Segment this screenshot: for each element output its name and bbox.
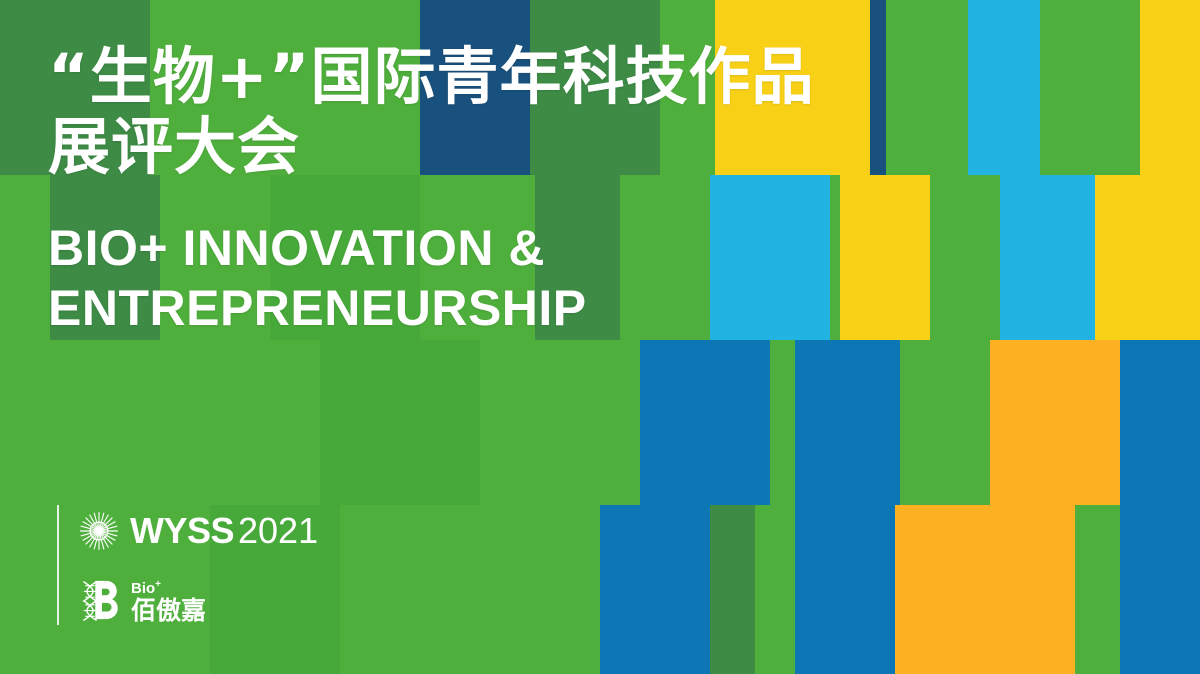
wyss-wordmark: WYSS (130, 513, 234, 549)
wyss-sunburst-icon (77, 509, 121, 553)
baiaojia-chinese-name: 佰傲嘉 (131, 598, 206, 623)
baiaojia-latin-label: Bio+ (131, 580, 206, 596)
wyss-logo: WYSS 2021 (77, 509, 318, 553)
page-title-chinese: “生物+”国际青年科技作品 展评大会 (48, 42, 968, 182)
wyss-year: 2021 (238, 513, 318, 549)
baiaojia-latin: Bio (131, 580, 155, 597)
page-title-english: BIO+ INNOVATION & ENTREPRENEURSHIP (48, 218, 808, 338)
logo-lockup: WYSS 2021 (57, 505, 357, 625)
poster-canvas: “生物+”国际青年科技作品 展评大会 BIO+ INNOVATION & ENT… (0, 0, 1200, 674)
poster-content: “生物+”国际青年科技作品 展评大会 BIO+ INNOVATION & ENT… (0, 0, 1200, 674)
logo-stack: WYSS 2021 (77, 505, 318, 625)
baiaojia-logo: Bio+ 佰傲嘉 (77, 579, 318, 623)
vertical-divider (57, 505, 59, 625)
bio-dna-b-icon (77, 579, 125, 623)
baiaojia-plus-superscript: + (155, 579, 161, 590)
baiaojia-text: Bio+ 佰傲嘉 (131, 580, 206, 623)
